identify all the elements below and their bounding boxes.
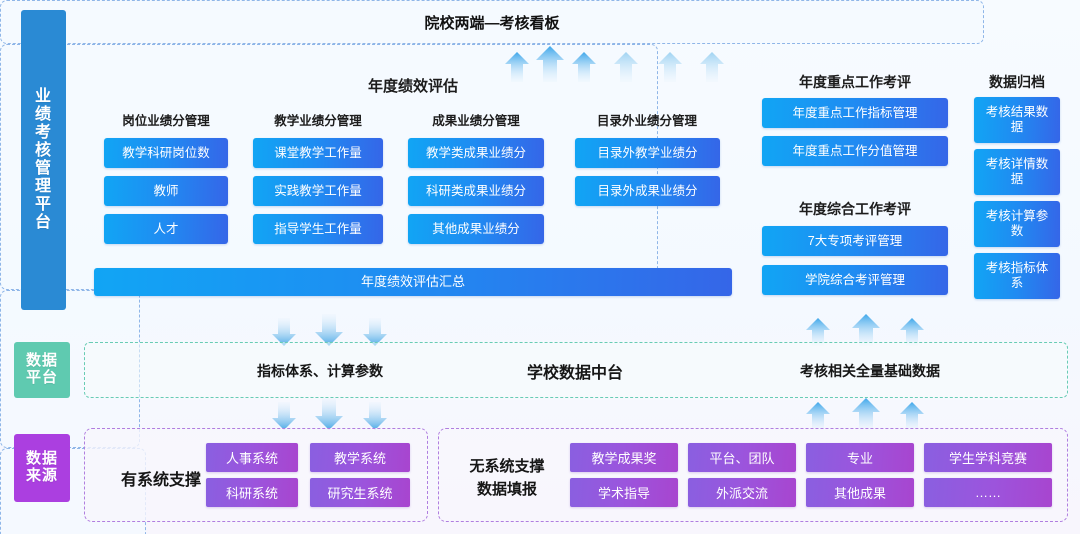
item-supported-system-4[interactable]: 研究生系统	[310, 478, 410, 507]
data-platform-center-label: 学校数据中台	[450, 359, 700, 383]
item-manual-entry-6[interactable]: 外派交流	[688, 478, 796, 507]
archive-title: 数据归档	[966, 72, 1068, 92]
dashboard-title: 院校两端—考核看板	[424, 12, 559, 33]
item-teaching-score-2[interactable]: 实践教学工作量	[253, 176, 383, 206]
band-label-line: 来源	[26, 468, 58, 485]
arrow-down-data-to-source-2	[315, 398, 343, 430]
item-manual-entry-5[interactable]: 学术指导	[570, 478, 678, 507]
group-title-offcatalog-score: 目录外业绩分管理	[563, 110, 731, 129]
item-supported-system-1[interactable]: 人事系统	[206, 443, 298, 472]
item-archive-2[interactable]: 考核详情数据	[974, 149, 1060, 195]
data-platform-left-label: 指标体系、计算参数	[180, 361, 460, 381]
band-label-platform: 业 绩 考 核 管 理 平 台	[21, 10, 66, 310]
item-manual-entry-2[interactable]: 平台、团队	[688, 443, 796, 472]
band-label-char: 考	[35, 124, 52, 142]
group-title-teaching-score: 教学业绩分管理	[245, 110, 391, 129]
unsupported-systems-label-line1: 无系统支撑	[448, 455, 566, 476]
item-post-score-3[interactable]: 人才	[104, 214, 228, 244]
item-key-work-2[interactable]: 年度重点工作分值管理	[762, 136, 948, 166]
item-key-work-1[interactable]: 年度重点工作指标管理	[762, 98, 948, 128]
band-label-char: 理	[35, 178, 52, 196]
arrow-down-data-to-source-1	[272, 402, 296, 430]
item-archive-1[interactable]: 考核结果数据	[974, 97, 1060, 143]
band-label-char: 平	[35, 196, 52, 214]
unsupported-systems-label-line2: 数据填报	[448, 478, 566, 499]
comprehensive-work-title: 年度综合工作考评	[752, 199, 958, 219]
arrow-down-data-to-source-3	[363, 402, 387, 430]
group-title-post-score: 岗位业绩分管理	[96, 110, 236, 129]
arrow-up-source-to-data-1	[806, 402, 830, 430]
band-label-char: 绩	[35, 106, 52, 124]
band-label-char: 业	[35, 88, 52, 106]
item-comprehensive-work-2[interactable]: 学院综合考评管理	[762, 265, 948, 295]
annual-eval-summary-bar[interactable]: 年度绩效评估汇总	[94, 268, 732, 296]
item-offcatalog-score-2[interactable]: 目录外成果业绩分	[575, 176, 720, 206]
item-supported-system-3[interactable]: 科研系统	[206, 478, 298, 507]
data-platform-right-label: 考核相关全量基础数据	[720, 361, 1020, 381]
item-post-score-1[interactable]: 教学科研岗位数	[104, 138, 228, 168]
item-teaching-score-3[interactable]: 指导学生工作量	[253, 214, 383, 244]
band-label-char: 核	[35, 142, 52, 160]
item-post-score-2[interactable]: 教师	[104, 176, 228, 206]
dashboard-banner[interactable]: 院校两端—考核看板	[0, 0, 984, 44]
arrow-up-source-to-data-3	[900, 402, 924, 430]
item-archive-4[interactable]: 考核指标体系	[974, 253, 1060, 299]
item-achievement-score-1[interactable]: 教学类成果业绩分	[408, 138, 544, 168]
item-manual-entry-1[interactable]: 教学成果奖	[570, 443, 678, 472]
band-label-data-source: 数据 来源	[14, 434, 70, 502]
key-work-title: 年度重点工作考评	[752, 72, 958, 92]
band-label-line: 平台	[26, 370, 58, 387]
item-manual-entry-8[interactable]: ……	[924, 478, 1052, 507]
item-teaching-score-1[interactable]: 课堂教学工作量	[253, 138, 383, 168]
item-manual-entry-7[interactable]: 其他成果	[806, 478, 914, 507]
item-manual-entry-3[interactable]: 专业	[806, 443, 914, 472]
band-label-line: 数据	[26, 451, 58, 468]
item-achievement-score-2[interactable]: 科研类成果业绩分	[408, 176, 544, 206]
item-archive-3[interactable]: 考核计算参数	[974, 201, 1060, 247]
group-title-achievement-score: 成果业绩分管理	[400, 110, 552, 129]
item-offcatalog-score-1[interactable]: 目录外教学业绩分	[575, 138, 720, 168]
band-label-line: 数据	[26, 353, 58, 370]
band-label-data-platform: 数据 平台	[14, 342, 70, 398]
item-comprehensive-work-1[interactable]: 7大专项考评管理	[762, 226, 948, 256]
annual-eval-title: 年度绩效评估	[84, 75, 742, 96]
band-label-char: 管	[35, 160, 52, 178]
band-label-char: 台	[35, 214, 52, 232]
item-achievement-score-3[interactable]: 其他成果业绩分	[408, 214, 544, 244]
item-supported-system-2[interactable]: 教学系统	[310, 443, 410, 472]
diagram-canvas: 业 绩 考 核 管 理 平 台 院校两端—考核看板 年度绩效评估 岗位业绩分管理…	[0, 0, 1080, 534]
arrow-up-source-to-data-2	[852, 398, 880, 430]
item-manual-entry-4[interactable]: 学生学科竞赛	[924, 443, 1052, 472]
